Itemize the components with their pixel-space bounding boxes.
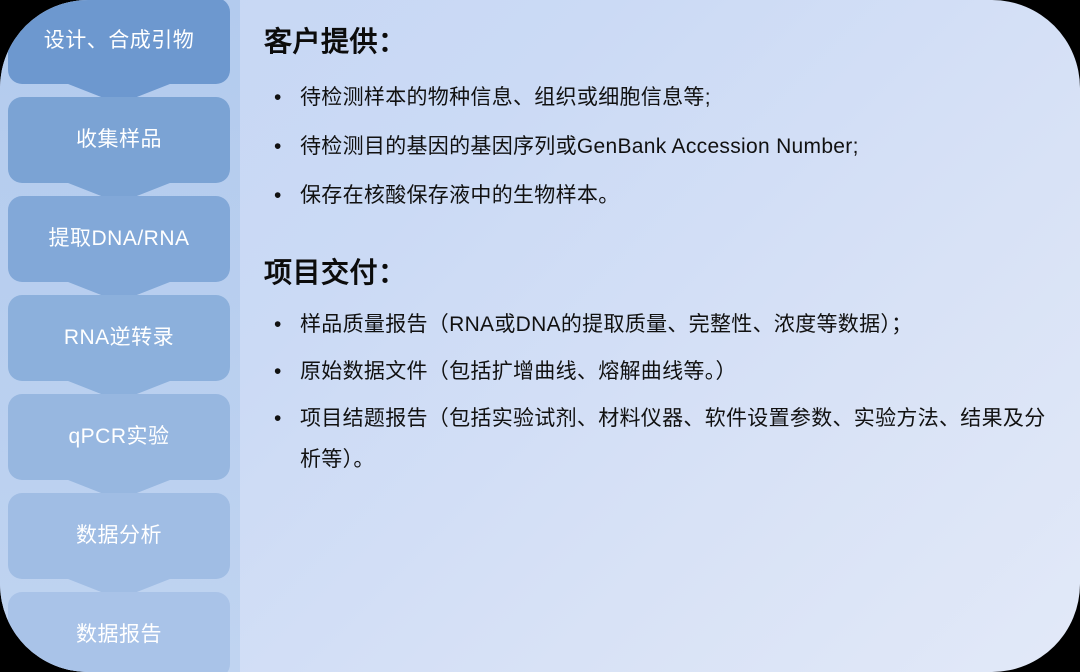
workflow-step-label: 提取DNA/RNA bbox=[40, 226, 197, 251]
workflow-step-body: 设计、合成引物 bbox=[8, 0, 230, 84]
workflow-step-label: RNA逆转录 bbox=[56, 325, 182, 350]
slide-card: 设计、合成引物收集样品提取DNA/RNARNA逆转录qPCR实验数据分析数据报告… bbox=[0, 0, 1080, 672]
list-item: • 待检测目的基因的基因序列或GenBank Accession Number; bbox=[264, 127, 1046, 168]
list-item: • 样品质量报告（RNA或DNA的提取质量、完整性、浓度等数据）； bbox=[264, 305, 1046, 346]
workflow-step-6[interactable]: 数据分析 bbox=[8, 493, 230, 579]
workflow-step-5[interactable]: qPCR实验 bbox=[8, 394, 230, 480]
workflow-step-label: 收集样品 bbox=[68, 127, 170, 152]
workflow-step-3[interactable]: 提取DNA/RNA bbox=[8, 196, 230, 282]
workflow-step-label: 数据分析 bbox=[68, 523, 170, 548]
workflow-step-body: 数据报告 bbox=[8, 592, 230, 672]
content-panel: 客户提供： • 待检测样本的物种信息、组织或细胞信息等; • 待检测目的基因的基… bbox=[240, 0, 1080, 672]
bullet-list: • 样品质量报告（RNA或DNA的提取质量、完整性、浓度等数据）； • 原始数据… bbox=[264, 305, 1046, 481]
bullet-icon: • bbox=[274, 127, 282, 168]
workflow-step-label: qPCR实验 bbox=[60, 424, 177, 449]
section-project-delivery: 项目交付： • 样品质量报告（RNA或DNA的提取质量、完整性、浓度等数据）； … bbox=[264, 251, 1046, 481]
workflow-step-label: 设计、合成引物 bbox=[36, 28, 203, 53]
bullet-icon: • bbox=[274, 399, 282, 440]
workflow-rail: 设计、合成引物收集样品提取DNA/RNARNA逆转录qPCR实验数据分析数据报告 bbox=[0, 0, 240, 672]
list-item-text: 保存在核酸保存液中的生物样本。 bbox=[300, 184, 620, 207]
list-item-text: 原始数据文件（包括扩增曲线、熔解曲线等。） bbox=[300, 360, 737, 383]
bullet-icon: • bbox=[274, 352, 282, 393]
workflow-step-label: 数据报告 bbox=[68, 622, 170, 647]
list-item-text: 待检测目的基因的基因序列或GenBank Accession Number; bbox=[300, 135, 859, 158]
list-item: • 原始数据文件（包括扩增曲线、熔解曲线等。） bbox=[264, 352, 1046, 393]
workflow-step-body: qPCR实验 bbox=[8, 394, 230, 480]
bullet-icon: • bbox=[274, 176, 282, 217]
workflow-step-body: RNA逆转录 bbox=[8, 295, 230, 381]
list-item-text: 样品质量报告（RNA或DNA的提取质量、完整性、浓度等数据）； bbox=[300, 313, 912, 336]
section-heading: 项目交付： bbox=[264, 251, 1046, 291]
workflow-step-2[interactable]: 收集样品 bbox=[8, 97, 230, 183]
workflow-step-body: 提取DNA/RNA bbox=[8, 196, 230, 282]
list-item: • 待检测样本的物种信息、组织或细胞信息等; bbox=[264, 78, 1046, 119]
workflow-step-7[interactable]: 数据报告 bbox=[8, 592, 230, 672]
list-item-text: 项目结题报告（包括实验试剂、材料仪器、软件设置参数、实验方法、结果及分析等）。 bbox=[300, 407, 1046, 471]
bullet-icon: • bbox=[274, 305, 282, 346]
list-item: • 保存在核酸保存液中的生物样本。 bbox=[264, 176, 1046, 217]
workflow-step-4[interactable]: RNA逆转录 bbox=[8, 295, 230, 381]
section-customer-provides: 客户提供： • 待检测样本的物种信息、组织或细胞信息等; • 待检测目的基因的基… bbox=[264, 20, 1046, 217]
workflow-step-body: 收集样品 bbox=[8, 97, 230, 183]
list-item: • 项目结题报告（包括实验试剂、材料仪器、软件设置参数、实验方法、结果及分析等）… bbox=[264, 399, 1046, 481]
section-heading: 客户提供： bbox=[264, 20, 1046, 60]
list-item-text: 待检测样本的物种信息、组织或细胞信息等; bbox=[300, 86, 711, 109]
bullet-list: • 待检测样本的物种信息、组织或细胞信息等; • 待检测目的基因的基因序列或Ge… bbox=[264, 78, 1046, 217]
bullet-icon: • bbox=[274, 78, 282, 119]
workflow-step-body: 数据分析 bbox=[8, 493, 230, 579]
workflow-step-1[interactable]: 设计、合成引物 bbox=[8, 0, 230, 84]
